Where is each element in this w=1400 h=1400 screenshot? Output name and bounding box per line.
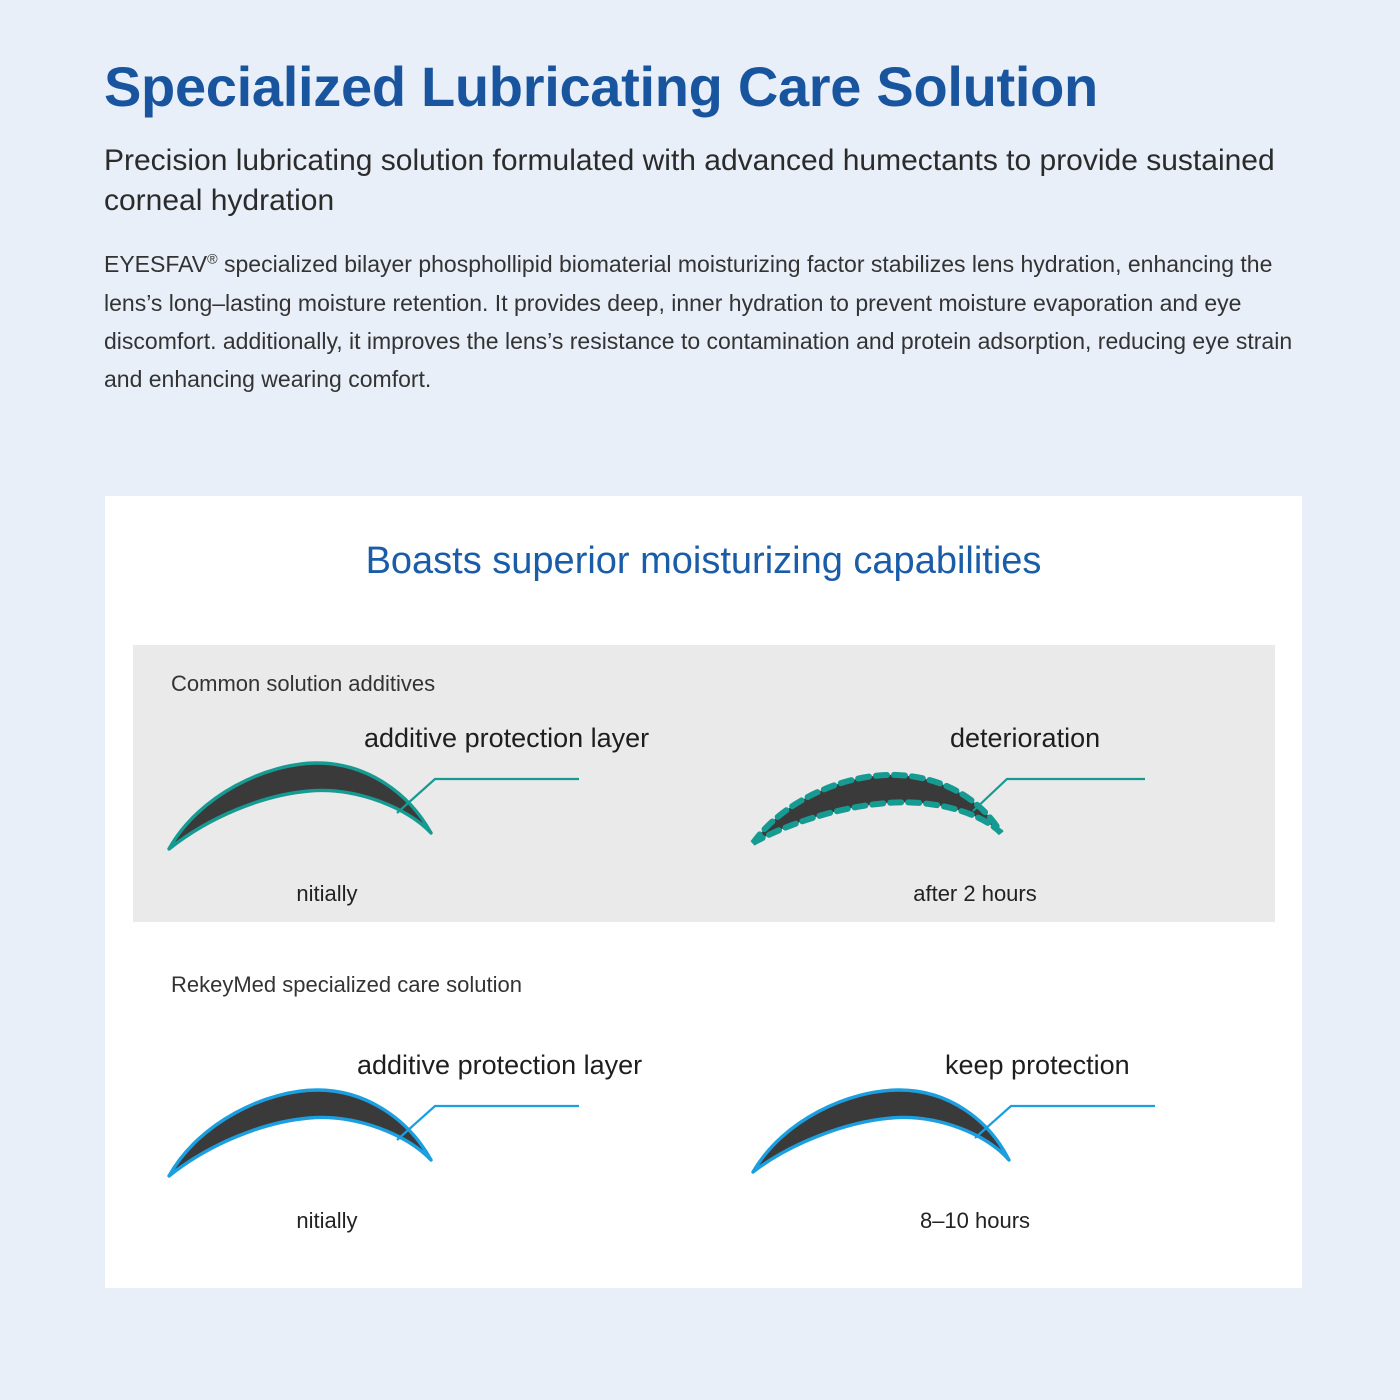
callout-keep-protection: keep protection xyxy=(945,1050,1130,1081)
lens-shape-deteriorated xyxy=(753,775,1001,843)
callout-deterioration: deterioration xyxy=(950,723,1100,754)
leader-line xyxy=(397,1106,579,1140)
lens-shape xyxy=(753,1090,1009,1172)
leader-line xyxy=(973,779,1145,811)
lens-shape xyxy=(169,1090,431,1176)
registered-trademark-symbol: ® xyxy=(207,251,218,267)
page-subtitle: Precision lubricating solution formulate… xyxy=(104,141,1334,221)
page-root: Specialized Lubricating Care Solution Pr… xyxy=(0,0,1400,1400)
panel-label-rekeymed: RekeyMed specialized care solution xyxy=(171,972,522,998)
lens-shape xyxy=(169,763,431,849)
body-paragraph: EYESFAV® specialized bilayer phosphollip… xyxy=(104,245,1319,399)
brand-name: EYESFAV xyxy=(104,251,207,277)
diagram-common-initial: additive protection layer nitially xyxy=(159,721,679,911)
card-title: Boasts superior moisturizing capabilitie… xyxy=(105,540,1302,583)
caption-after-2-hours: after 2 hours xyxy=(715,881,1235,907)
callout-additive-protection-layer: additive protection layer xyxy=(357,1050,642,1081)
leader-line xyxy=(397,779,579,813)
panel-rekeymed-solution: RekeyMed specialized care solution addit… xyxy=(133,948,1275,1258)
body-paragraph-text: specialized bilayer phosphollipid biomat… xyxy=(104,251,1292,392)
panel-common-solution: Common solution additives additive prote… xyxy=(133,645,1275,922)
header-block: Specialized Lubricating Care Solution Pr… xyxy=(104,56,1334,399)
comparison-card: Boasts superior moisturizing capabilitie… xyxy=(105,496,1302,1288)
callout-additive-protection-layer: additive protection layer xyxy=(364,723,649,754)
leader-line xyxy=(975,1106,1155,1138)
diagram-rekeymed-initial: additive protection layer nitially xyxy=(159,1048,679,1238)
diagram-rekeymed-after: keep protection 8–10 hours xyxy=(745,1048,1265,1238)
caption-initially: nitially xyxy=(67,881,587,907)
page-title: Specialized Lubricating Care Solution xyxy=(104,56,1334,119)
diagram-common-after: deterioration after 2 hours xyxy=(745,721,1265,911)
caption-initially: nitially xyxy=(67,1208,587,1234)
panel-label-common: Common solution additives xyxy=(171,671,435,697)
caption-8-10-hours: 8–10 hours xyxy=(715,1208,1235,1234)
